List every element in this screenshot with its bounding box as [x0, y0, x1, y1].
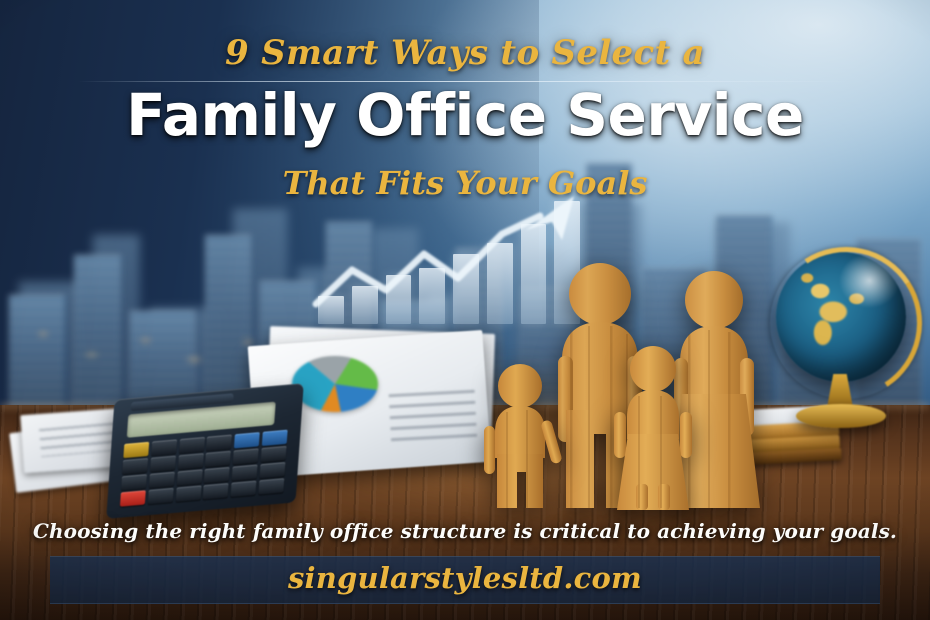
calculator-keypad — [120, 430, 287, 507]
wooden-family-figurines — [480, 252, 766, 510]
calculator-key — [206, 435, 232, 451]
calculator-key — [234, 432, 260, 448]
calculator-key — [230, 481, 256, 497]
kicker-text: 9 Smart Ways to Select a — [0, 33, 930, 73]
calculator-key — [258, 479, 284, 495]
page-title: Family Office Service — [0, 86, 930, 145]
calculator-key — [178, 453, 204, 469]
calculator-key — [260, 446, 286, 462]
calculator-key — [261, 430, 287, 446]
report-text-lines — [389, 390, 478, 446]
calculator-key — [150, 456, 176, 472]
figure-girl — [608, 344, 698, 510]
calculator-key — [233, 448, 259, 464]
calculator-key — [151, 439, 177, 455]
calculator-key — [204, 467, 230, 483]
calculator-key — [149, 472, 175, 488]
pie-chart — [292, 356, 378, 412]
blog-banner-image: 9 Smart Ways to Select a Family Office S… — [0, 0, 930, 620]
figure-boy — [480, 362, 564, 510]
calculator-key — [179, 437, 205, 453]
calculator-key — [176, 470, 202, 486]
calculator-key — [175, 486, 201, 502]
calculator — [106, 383, 304, 519]
globe-base — [796, 404, 886, 428]
website-url[interactable]: singularstylesltd.com — [0, 561, 930, 595]
calculator-key — [203, 483, 229, 499]
calculator-key — [124, 442, 150, 458]
headline-block: 9 Smart Ways to Select a Family Office S… — [0, 0, 930, 215]
desk-globe — [768, 252, 928, 442]
calculator-key — [232, 465, 258, 481]
calculator-key — [121, 474, 147, 490]
calculator-clear-key — [120, 491, 146, 507]
calculator-key — [259, 462, 285, 478]
caption-text: Choosing the right family office structu… — [0, 519, 930, 543]
calculator-key — [205, 451, 231, 467]
calculator-key — [122, 458, 148, 474]
subtitle-text: That Fits Your Goals — [0, 164, 930, 202]
calculator-key — [148, 488, 174, 504]
